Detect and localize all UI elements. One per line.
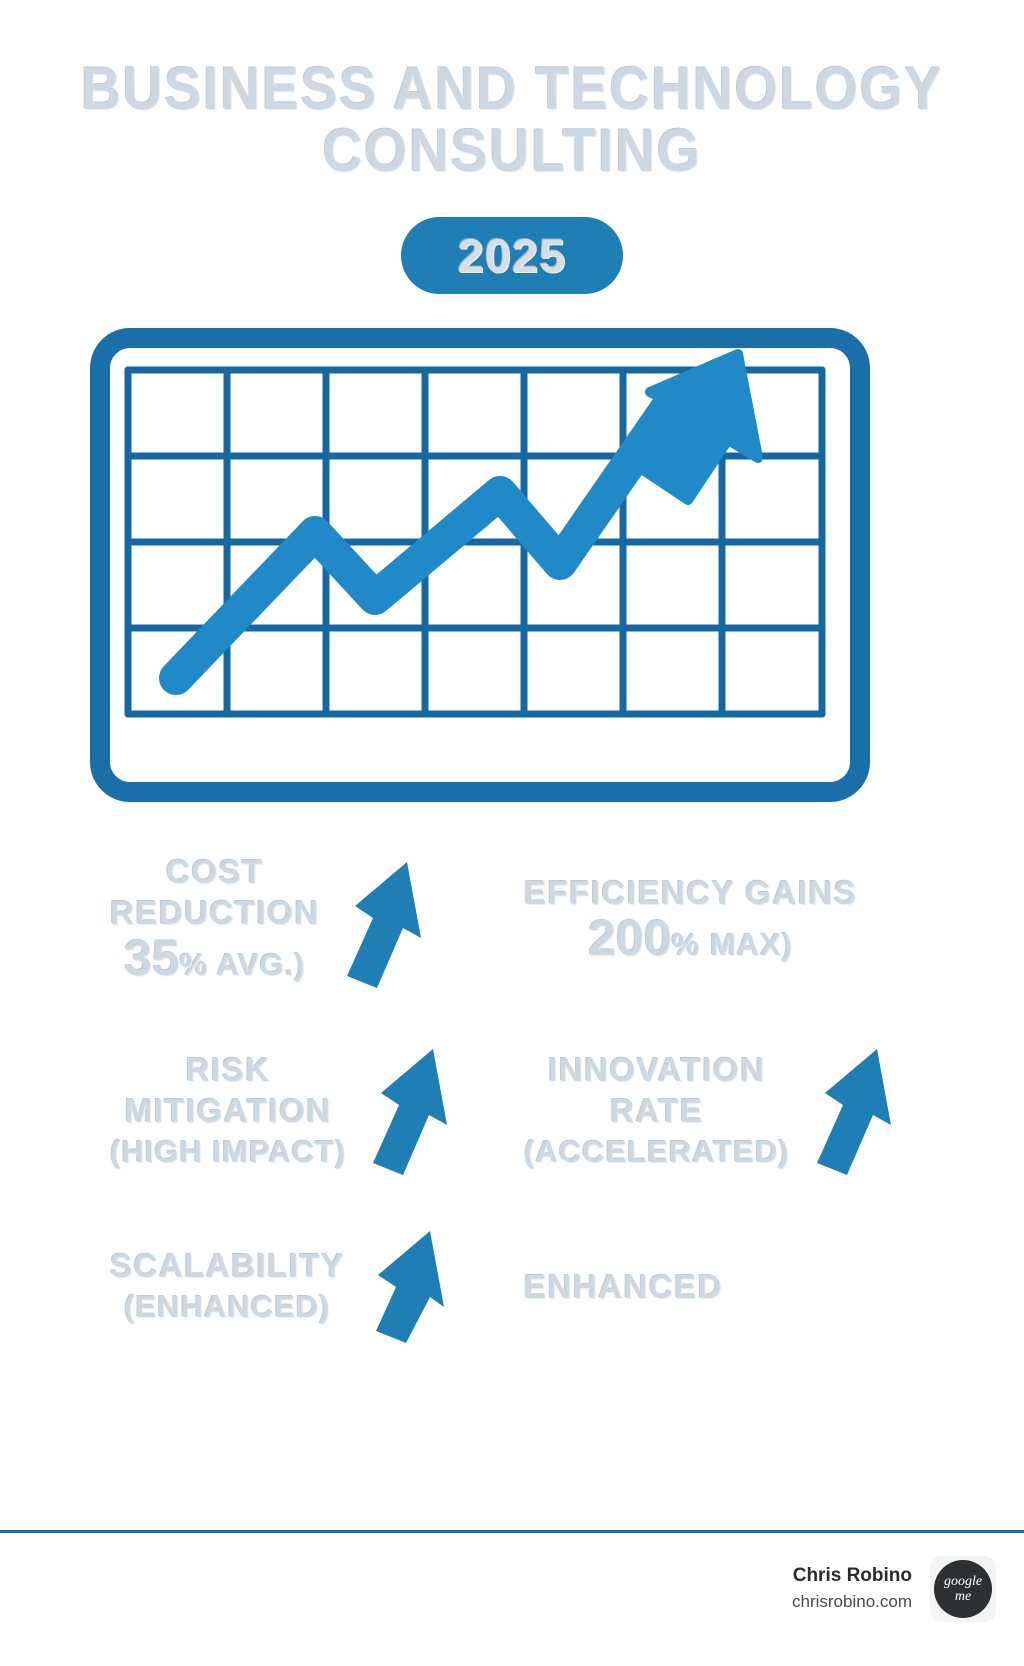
stats-section: COST REDUCTION 35% AVG.) EFFICIENCY GAIN… [0, 836, 1024, 1361]
stat-row: COST REDUCTION 35% AVG.) EFFICIENCY GAIN… [0, 836, 1024, 1011]
stat-scalability: SCALABILITY (ENHANCED) [0, 1211, 512, 1361]
stat-value-number: 200 [588, 910, 671, 966]
stat-value: (ENHANCED) [110, 1286, 345, 1328]
up-right-arrow-icon [790, 1036, 900, 1186]
logo-disc-icon: google me [934, 1560, 992, 1618]
footer: Chris Robino chrisrobino.com google me [792, 1556, 996, 1622]
stat-efficiency-gains: EFFICIENCY GAINS 200% MAX) [512, 836, 1024, 1011]
stat-label: ENHANCED [524, 1266, 723, 1307]
stat-label: RISK MITIGATION [110, 1049, 346, 1131]
stat-label: COST REDUCTION [110, 851, 320, 933]
stat-enhanced: ENHANCED [512, 1211, 1024, 1361]
up-right-arrow-icon [345, 1211, 455, 1361]
author-website[interactable]: chrisrobino.com [792, 1589, 912, 1615]
page-title: BUSINESS AND TECHNOLOGY CONSULTING [0, 58, 1024, 182]
year-badge-label: 2025 [458, 228, 567, 283]
logo-line-1: google [944, 1575, 982, 1589]
stat-row: RISK MITIGATION (HIGH IMPACT) INNOVATION… [0, 1011, 1024, 1211]
stat-risk-mitigation: RISK MITIGATION (HIGH IMPACT) [0, 1011, 512, 1211]
stat-value-unit: % MAX) [672, 927, 793, 962]
stat-innovation-rate: INNOVATION RATE (ACCELERATED) [512, 1011, 1024, 1211]
year-badge: 2025 [401, 217, 623, 294]
stat-value-number: 35 [124, 930, 180, 986]
stat-row: SCALABILITY (ENHANCED) ENHANCED [0, 1211, 1024, 1361]
stat-label: SCALABILITY [110, 1245, 345, 1286]
stat-cost-reduction: COST REDUCTION 35% AVG.) [0, 836, 512, 1011]
footer-divider [0, 1530, 1024, 1533]
up-right-arrow-icon [320, 849, 430, 999]
up-right-arrow-icon [346, 1036, 456, 1186]
stat-value: 200% MAX) [524, 913, 857, 976]
stat-value: 35% AVG.) [110, 933, 320, 996]
growth-chart [110, 348, 850, 782]
brand-logo[interactable]: google me [930, 1556, 996, 1622]
title-line-2: CONSULTING [41, 120, 983, 182]
chart-frame [90, 328, 870, 802]
stat-value: (HIGH IMPACT) [110, 1131, 346, 1173]
stat-label: EFFICIENCY GAINS [524, 872, 857, 913]
author-name: Chris Robino [792, 1563, 912, 1589]
infographic-page: BUSINESS AND TECHNOLOGY CONSULTING 2025 [0, 0, 1024, 1666]
stat-label: INNOVATION RATE [524, 1049, 790, 1131]
stat-value: (ACCELERATED) [524, 1131, 790, 1173]
logo-line-2: me [955, 1589, 971, 1604]
title-line-1: BUSINESS AND TECHNOLOGY [41, 58, 983, 120]
stat-value-unit: % AVG.) [180, 947, 306, 982]
